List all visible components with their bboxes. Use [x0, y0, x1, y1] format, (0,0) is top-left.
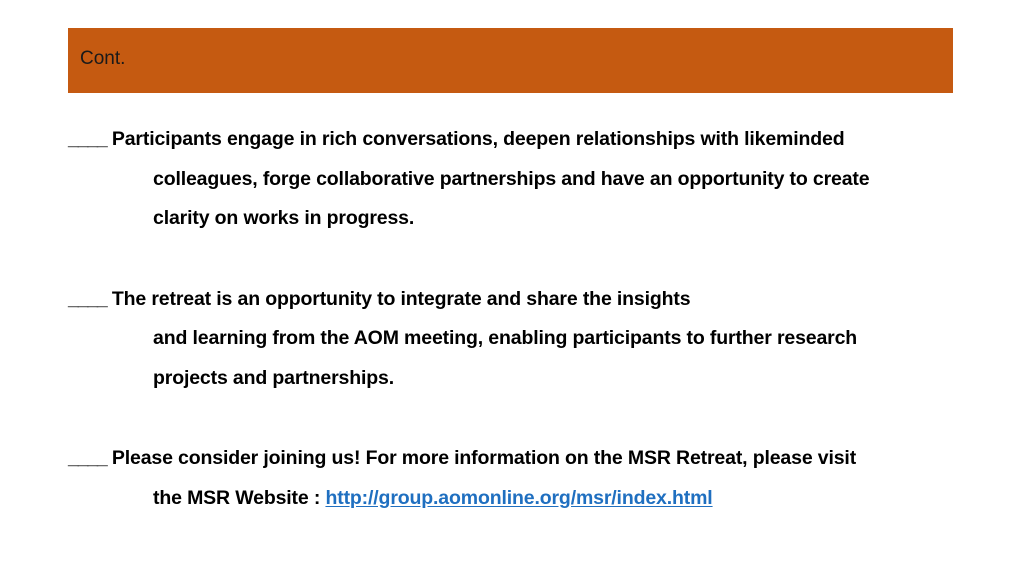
paragraph-1-bullet-dash: ____: [68, 128, 107, 150]
paragraph-2-line-3: projects and partnerships.: [68, 359, 958, 399]
paragraph-3-bullet-dash: ____: [68, 447, 107, 469]
paragraph-3-line-2-text: the MSR Website :: [153, 487, 325, 509]
paragraph-2-line-1: ____ The retreat is an opportunity to in…: [68, 280, 958, 320]
paragraph-1-line-1: ____ Participants engage in rich convers…: [68, 120, 958, 160]
title-banner: Cont.: [68, 28, 953, 93]
paragraph-1-line-3: clarity on works in progress.: [68, 199, 958, 239]
paragraph-1-line-1-text: Participants engage in rich conversation…: [112, 128, 845, 150]
body-paragraph-1: ____ Participants engage in rich convers…: [68, 120, 958, 239]
body-paragraph-3: ____ Please consider joining us! For mor…: [68, 439, 958, 518]
page-title: Cont.: [80, 49, 125, 68]
paragraph-3-line-1: ____ Please consider joining us! For mor…: [68, 439, 958, 479]
paragraph-3-line-2: the MSR Website : http://group.aomonline…: [68, 479, 958, 519]
paragraph-2-line-2: and learning from the AOM meeting, enabl…: [68, 319, 958, 359]
msr-website-link[interactable]: http://group.aomonline.org/msr/index.htm…: [325, 487, 712, 509]
slide: Cont. ____ Participants engage in rich c…: [0, 0, 1024, 576]
paragraph-3-line-1-text: Please consider joining us! For more inf…: [112, 447, 856, 469]
slide-body: ____ Participants engage in rich convers…: [68, 120, 958, 518]
paragraph-2-bullet-dash: ____: [68, 288, 107, 310]
body-paragraph-2: ____ The retreat is an opportunity to in…: [68, 280, 958, 399]
paragraph-1-line-2: colleagues, forge collaborative partners…: [68, 160, 958, 200]
paragraph-2-line-1-text: The retreat is an opportunity to integra…: [112, 288, 691, 310]
